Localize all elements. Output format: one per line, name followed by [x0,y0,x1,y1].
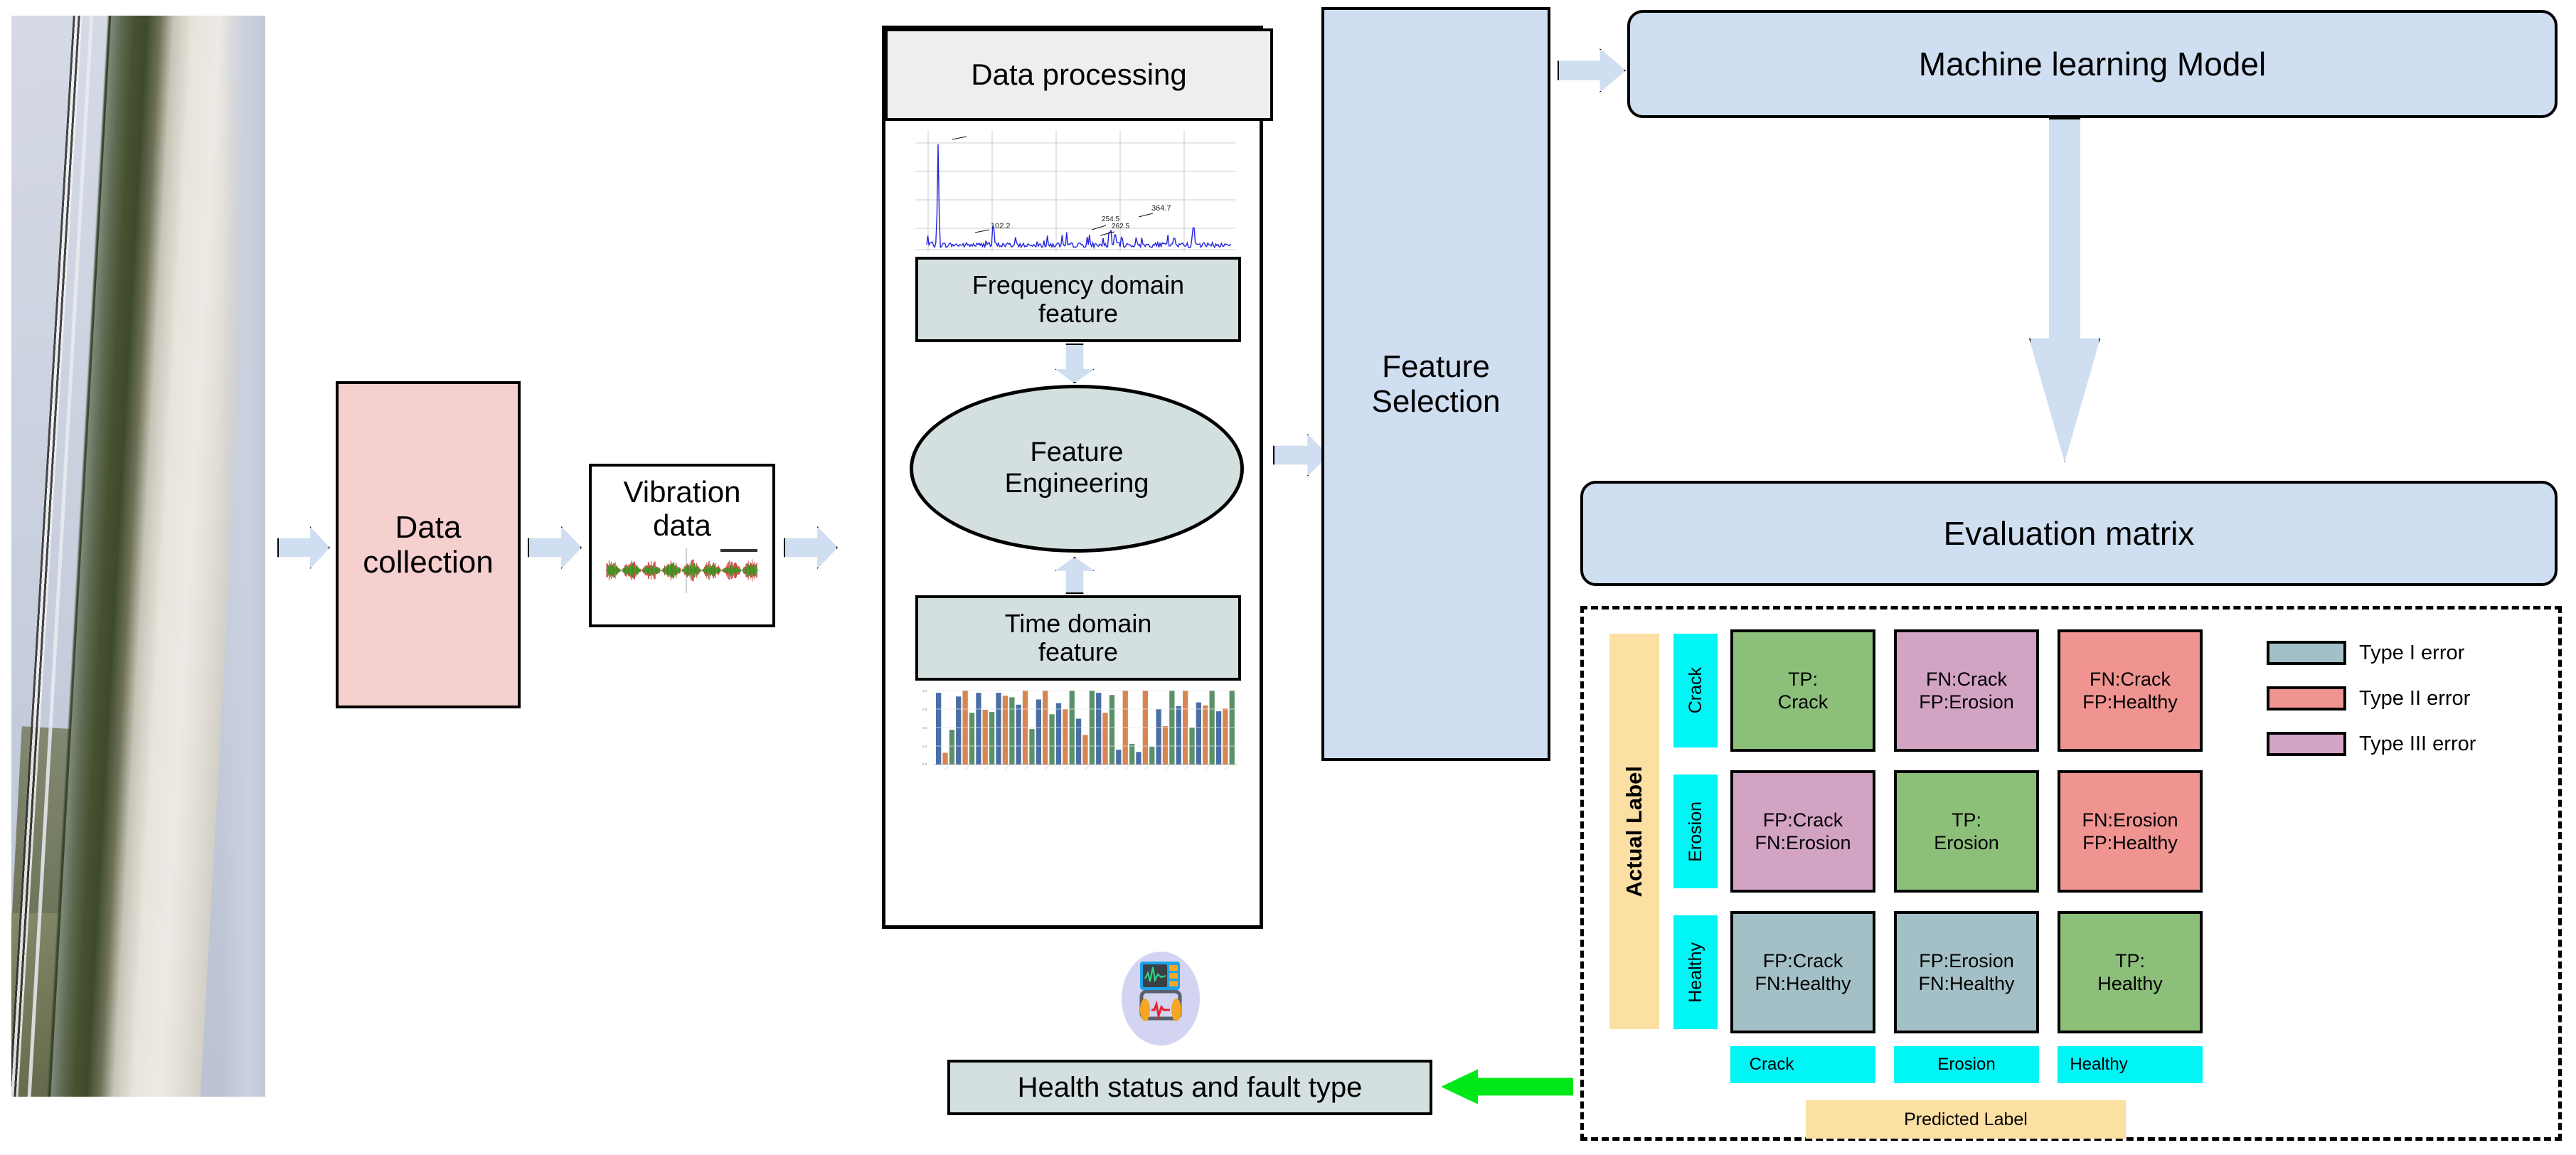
time-domain-feature-chart: 1.00.8 0.60.4 0.0 ——————————————————————… [910,681,1242,786]
arrow-down-icon [1055,344,1095,383]
cell-crack-crack: TP: Crack [1730,629,1875,752]
cell-healthy-crack: FP:Crack FN:Healthy [1730,911,1875,1033]
frequency-spectrum-svg [915,130,1235,252]
svg-text:——: —— [1203,765,1210,771]
data-processing-title: Data processing [971,58,1187,91]
time-domain-feature-box: Time domain feature [915,595,1241,681]
svg-text:——: —— [963,765,969,771]
legend-label-type3: Type III error [2359,732,2476,756]
cell-crack-healthy: FN:Crack FP:Healthy [2058,629,2203,752]
vibration-data-label: Vibration data [623,475,740,542]
legend-swatch-type3 [2267,732,2346,756]
arrow-right-icon [277,526,330,569]
legend-swatch-type2 [2267,686,2346,710]
cell-healthy-erosion: FP:Erosion FN:Healthy [1894,911,2039,1033]
workflow-diagram: Data collection Vibration data Data proc… [0,0,2576,1155]
feature-selection-box: Feature Selection [1321,7,1550,761]
svg-text:——: —— [1123,765,1129,771]
predicted-label-band: Predicted Label [1806,1100,2126,1139]
svg-text:——: —— [1043,765,1050,771]
svg-text:——: —— [1103,765,1109,771]
svg-text:——: —— [1223,765,1230,771]
arrow-right-icon [1273,434,1329,477]
col-label-healthy: Healthy [2058,1046,2203,1083]
confusion-matrix-panel: Actual Label Crack Erosion Healthy TP: C… [1580,606,2562,1141]
svg-text:——: —— [984,765,990,771]
svg-text:0.0: 0.0 [922,762,927,766]
cell-erosion-healthy: FN:Erosion FP:Healthy [2058,770,2203,893]
cell-crack-erosion: FN:Crack FP:Erosion [1894,629,2039,752]
row-label-healthy: Healthy [1673,915,1718,1029]
col-label-erosion: Erosion [1894,1046,2039,1083]
col-label-crack: Crack [1730,1046,1875,1083]
svg-text:——: —— [1004,765,1010,771]
legend-swatch-type1 [2267,641,2346,665]
arrow-up-icon [1055,557,1095,594]
spectrum-annotation-262: 262.5 [1112,223,1129,230]
data-processing-header: Data processing [885,28,1273,121]
wind-turbine-blade-erosion-photo [11,16,265,1127]
confusion-matrix-legend: Type I error Type II error Type III erro… [2267,638,2523,773]
data-collection-label: Data collection [339,510,518,580]
feature-engineering-label: Feature Engineering [1005,437,1149,499]
svg-text:——: —— [1164,765,1170,771]
raw-vibration-waveform-chart [601,545,763,596]
cell-healthy-healthy: TP: Healthy [2058,911,2203,1033]
svg-text:0.4: 0.4 [922,745,927,748]
spectrum-annotation-peak [958,130,960,136]
svg-text:——: —— [943,765,949,771]
svg-text:1.0: 1.0 [922,689,927,693]
cell-erosion-erosion: TP: Erosion [1894,770,2039,893]
device-svg [1122,952,1200,1045]
evaluation-matrix-label: Evaluation matrix [1944,514,2195,553]
health-status-box: Health status and fault type [947,1060,1432,1115]
data-collection-box: Data collection [336,381,521,708]
time-domain-feature-label: Time domain feature [1005,610,1152,667]
svg-text:——: —— [1063,765,1070,771]
svg-text:——: —— [1083,765,1090,771]
svg-text:——: —— [1144,765,1150,771]
data-processing-panel: Data processing [882,26,1263,929]
arrow-right-icon [784,526,838,569]
feature-engineering-ellipse: Feature Engineering [910,385,1244,553]
spectrum-annotation-102: 102.2 [991,222,1011,230]
arrow-right-icon [1558,48,1626,92]
spectrum-annotation-364: 364.7 [1151,204,1171,213]
actual-label-text: Actual Label [1622,766,1647,897]
feature-selection-label: Feature Selection [1371,349,1500,420]
health-status-label: Health status and fault type [1018,1072,1363,1104]
predicted-label-text: Predicted Label [1904,1109,2028,1130]
row-label-crack: Crack [1673,634,1718,747]
cell-erosion-crack: FP:Crack FN:Erosion [1730,770,1875,893]
machine-learning-model-label: Machine learning Model [1919,45,2266,83]
vibration-monitor-device-icon [1122,952,1200,1045]
frequency-domain-feature-label: Frequency domain feature [972,271,1184,329]
legend-label-type1: Type I error [2359,641,2464,665]
svg-text:——: —— [1183,765,1190,771]
row-label-erosion: Erosion [1673,775,1718,888]
svg-text:——: —— [1023,765,1030,771]
arrow-down-icon [2029,118,2100,462]
legend-label-type2: Type II error [2359,686,2470,710]
frequency-domain-feature-box: Frequency domain feature [915,257,1241,342]
svg-text:0.8: 0.8 [922,708,927,711]
feature-bar-svg: 1.00.8 0.60.4 0.0 ——————————————————————… [910,681,1242,786]
evaluation-matrix-box: Evaluation matrix [1580,481,2558,586]
frequency-spectrum-chart: 102.2 254.5 262.5 364.7 [915,130,1235,252]
waveform-svg [601,545,763,596]
green-arrow-left-icon [1441,1067,1573,1107]
arrow-right-icon [528,526,582,569]
machine-learning-model-box: Machine learning Model [1627,10,2558,118]
actual-label-band: Actual Label [1609,634,1659,1029]
vibration-data-box: Vibration data [589,464,775,627]
svg-text:0.6: 0.6 [922,726,927,730]
